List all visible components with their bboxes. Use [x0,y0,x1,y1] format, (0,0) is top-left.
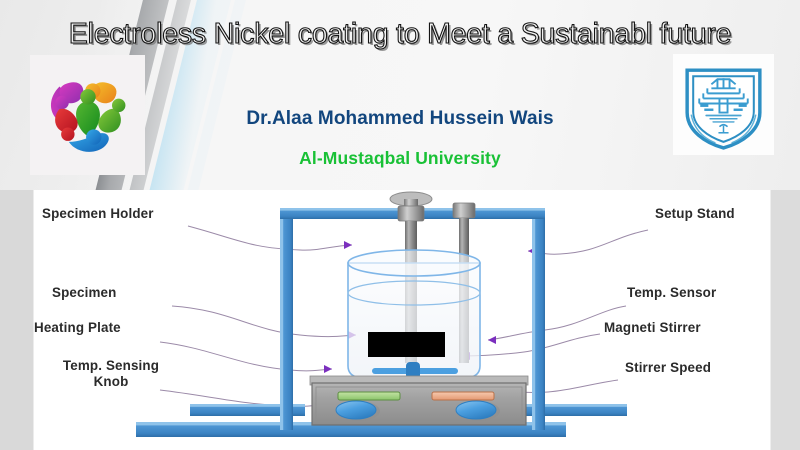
label-magnetic-stirrer: Magneti Stirrer [604,320,701,336]
page-title: Electroless Nickel coating to Meet a Sus… [18,16,782,52]
label-stirrer-speed: Stirrer Speed [625,360,711,376]
temp-sensor-clamp [453,203,475,218]
slide: Electroless Nickel coating to Meet a Sus… [0,0,800,450]
label-setup-stand: Setup Stand [655,206,735,222]
affiliation-name: Al-Mustaqbal University [120,148,680,169]
slide-header: Electroless Nickel coating to Meet a Sus… [0,0,800,190]
label-temp-sensing-knob: Temp. Sensing Knob [26,358,196,389]
content-panel: Specimen Holder Specimen Heating Plate T… [0,190,800,450]
specimen-holder-clamp [398,206,424,221]
beaker [348,250,480,378]
label-specimen: Specimen [52,285,116,301]
temperature-display [338,392,400,400]
community-people-logo-svg [40,67,136,163]
stirrer-speed-display [432,392,494,400]
community-people-logo [30,55,145,175]
al-mustaqbal-university-crest [673,54,774,155]
specimen-block [368,332,445,357]
presenter-name: Dr.Alaa Mohammed Hussein Wais [120,108,680,130]
hot-plate [310,376,528,425]
stirrer-speed-knob[interactable] [456,401,496,419]
university-crest-svg [673,54,774,155]
beaker-rim [348,250,480,276]
label-specimen-holder: Specimen Holder [42,206,154,222]
temp-sensing-knob[interactable] [336,401,376,419]
label-heating-plate: Heating Plate [34,320,121,336]
label-temp-sensor: Temp. Sensor [627,285,716,301]
